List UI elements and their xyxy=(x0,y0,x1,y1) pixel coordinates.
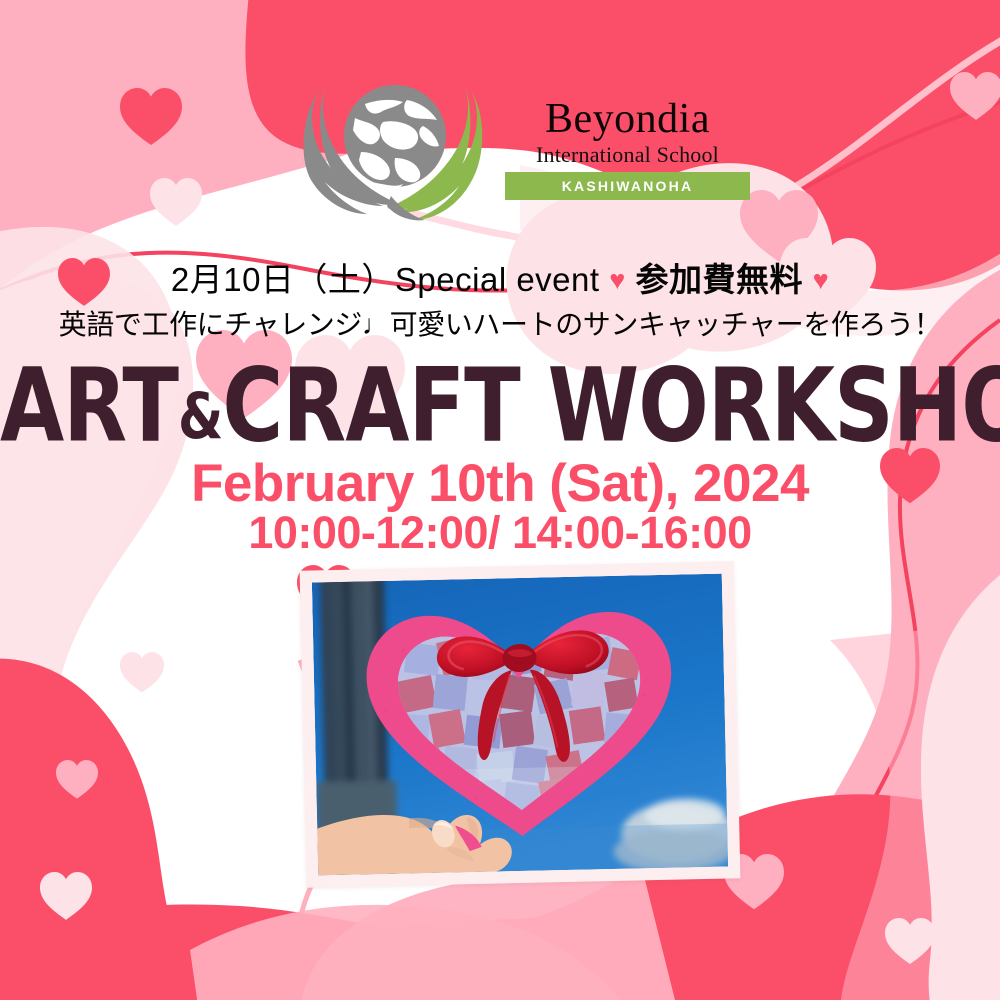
jp-date-label: 2月10日（土） xyxy=(171,261,395,298)
event-description: 英語で工作にチャレンジ♩可愛いハートのサンキャッチャーを作ろう！ xyxy=(0,303,1000,343)
title-ampersand: & xyxy=(178,381,222,454)
brand-name: Beyondia xyxy=(505,98,750,140)
event-photo xyxy=(312,574,728,876)
heart-icon: ♥ xyxy=(609,265,626,295)
brand-subtitle: International School xyxy=(505,142,750,167)
brand-text: Beyondia International School KASHIWANOH… xyxy=(505,98,750,200)
heart-suncatcher-photo xyxy=(312,574,728,876)
event-photo-card xyxy=(300,561,741,887)
event-date: February 10th (Sat), 2024 xyxy=(0,457,1000,510)
free-label: 参加費無料 xyxy=(635,261,803,298)
special-event-label: Special event xyxy=(395,261,600,298)
globe-wings-icon xyxy=(295,78,495,243)
campus-badge: KASHIWANOHA xyxy=(505,172,750,200)
event-headline-line1: 2月10日（土）Special event ♥ 参加費無料 ♥ xyxy=(0,253,1000,301)
title-part-2: CRAFT WORKSHOP xyxy=(222,346,1000,464)
heart-icon: ♥ xyxy=(813,265,830,295)
beyondia-emblem xyxy=(295,78,495,243)
poster-canvas: Beyondia International School KASHIWANOH… xyxy=(0,0,1000,1000)
title-part-1: ART xyxy=(0,346,178,464)
event-times: 10:00-12:00/ 14:00-16:00 xyxy=(0,510,1000,555)
school-logo-block: Beyondia International School KASHIWANOH… xyxy=(295,78,745,228)
page-title: ART&CRAFT WORKSHOP xyxy=(0,355,1000,456)
